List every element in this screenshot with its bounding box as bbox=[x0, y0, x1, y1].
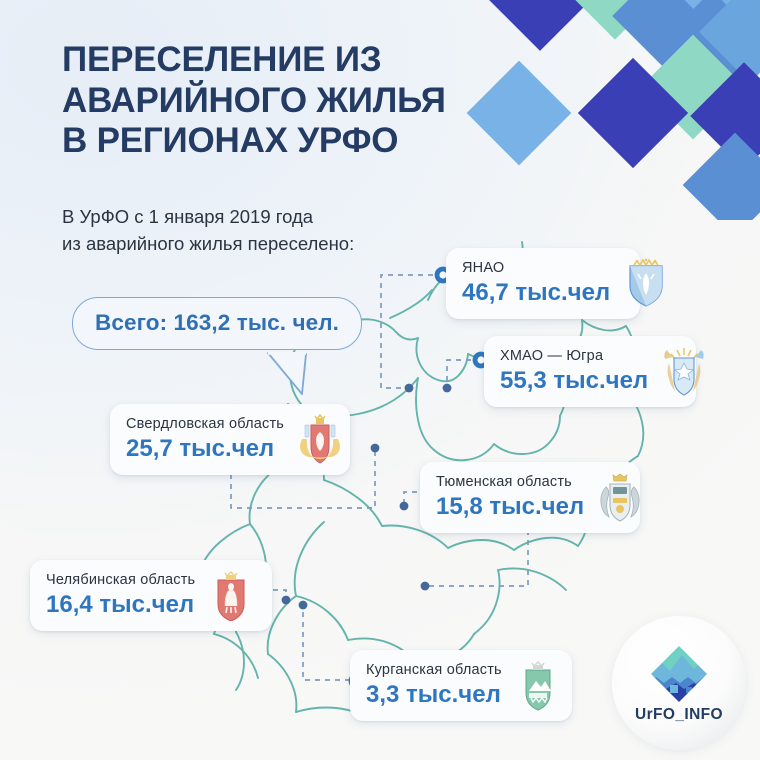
region-card-chelyabinsk[interactable]: Челябинская область 16,4 тыс.чел bbox=[30, 560, 272, 631]
region-name: ХМАО — Югра bbox=[500, 347, 648, 365]
region-name: Свердловская область bbox=[126, 415, 284, 433]
region-value: 25,7 тыс.чел bbox=[126, 435, 284, 463]
region-value: 3,3 тыс.чел bbox=[366, 681, 502, 709]
sverdlovsk-coat-of-arms-icon bbox=[294, 413, 346, 465]
chelyabinsk-coat-of-arms-icon bbox=[205, 569, 257, 621]
yanao-coat-of-arms-icon bbox=[620, 257, 672, 309]
total-bubble: Всего: 163,2 тыс. чел. bbox=[72, 297, 362, 350]
page-subtitle: В УрФО с 1 января 2019 года из аварийног… bbox=[62, 203, 462, 257]
region-card-yanao[interactable]: ЯНАО 46,7 тыс.чел bbox=[446, 248, 640, 319]
region-value: 46,7 тыс.чел bbox=[462, 279, 610, 307]
hmao-coat-of-arms-icon bbox=[658, 345, 710, 397]
region-card-tyumen[interactable]: Тюменская область 15,8 тыс.чел bbox=[420, 462, 640, 533]
page-title: ПЕРЕСЕЛЕНИЕ ИЗ АВАРИЙНОГО ЖИЛЬЯ В РЕГИОН… bbox=[62, 40, 532, 162]
tyumen-coat-of-arms-icon bbox=[594, 471, 646, 523]
region-name: Тюменская область bbox=[436, 473, 584, 491]
region-value: 15,8 тыс.чел bbox=[436, 493, 584, 521]
region-name: Челябинская область bbox=[46, 571, 195, 589]
urfo-info-logo[interactable]: UrFO_INFO bbox=[612, 616, 746, 750]
region-card-sverdlovsk[interactable]: Свердловская область 25,7 тыс.чел bbox=[110, 404, 350, 475]
infographic-poster: ПЕРЕСЕЛЕНИЕ ИЗ АВАРИЙНОГО ЖИЛЬЯ В РЕГИОН… bbox=[0, 0, 760, 760]
region-value: 16,4 тыс.чел bbox=[46, 591, 195, 619]
region-value: 55,3 тыс.чел bbox=[500, 367, 648, 395]
mountain-diamond-logo-icon bbox=[648, 643, 710, 705]
region-name: Курганская область bbox=[366, 661, 502, 679]
logo-text: UrFO_INFO bbox=[635, 706, 723, 724]
region-card-hmao[interactable]: ХМАО — Югра 55,3 тыс.чел bbox=[484, 336, 696, 407]
bubble-tail-icon bbox=[266, 352, 312, 396]
region-name: ЯНАО bbox=[462, 259, 610, 277]
kurgan-coat-of-arms-icon bbox=[512, 659, 564, 711]
region-card-kurgan[interactable]: Курганская область 3,3 тыс.чел bbox=[350, 650, 572, 721]
